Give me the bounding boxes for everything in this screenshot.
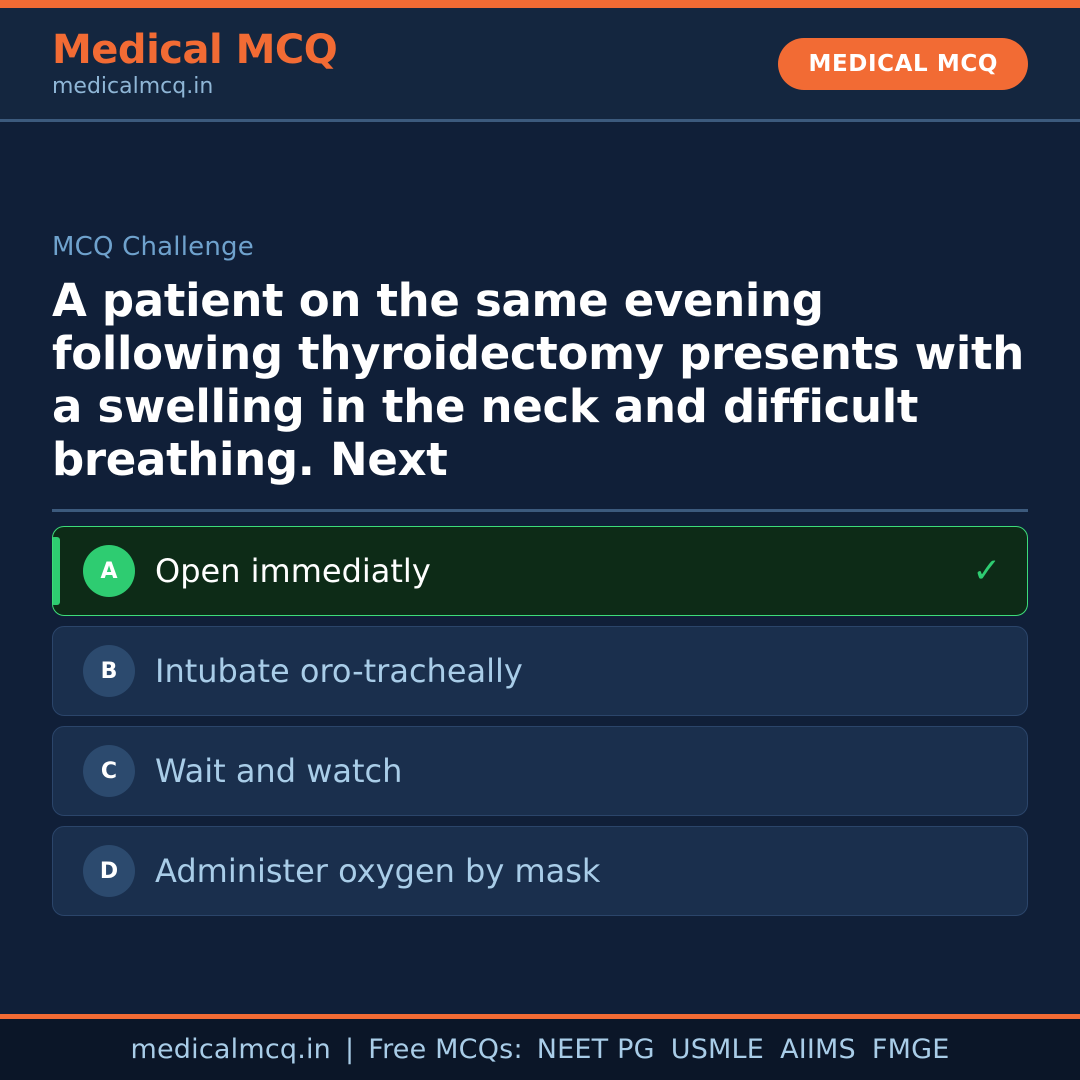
options-list: A Open immediatly ✓ B Intubate oro-trach… (52, 526, 1028, 916)
main-content: MCQ Challenge A patient on the same even… (0, 122, 1080, 1014)
option-label: Administer oxygen by mask (155, 852, 600, 890)
footer-tag-aiims: AIIMS (780, 1034, 856, 1065)
option-letter-badge: D (83, 845, 135, 897)
brand-block: Medical MCQ medicalmcq.in (52, 30, 337, 98)
footer-label: Free MCQs: (368, 1034, 522, 1065)
option-c[interactable]: C Wait and watch ✓ (52, 726, 1028, 816)
check-icon: ✓ (973, 554, 1002, 588)
brand-title: Medical MCQ (52, 30, 337, 70)
footer-separator: | (345, 1034, 354, 1065)
option-d[interactable]: D Administer oxygen by mask ✓ (52, 826, 1028, 916)
option-letter-badge: A (83, 545, 135, 597)
correct-accent-bar (53, 537, 60, 605)
option-label: Intubate oro-tracheally (155, 652, 523, 690)
option-letter-badge: B (83, 645, 135, 697)
footer-tag-neetpg: NEET PG (537, 1034, 655, 1065)
mcq-card: Medical MCQ medicalmcq.in MEDICAL MCQ MC… (0, 0, 1080, 1080)
option-letter-badge: C (83, 745, 135, 797)
eyebrow-label: MCQ Challenge (52, 232, 1028, 262)
question-text: A patient on the same evening following … (52, 274, 1028, 486)
option-a[interactable]: A Open immediatly ✓ (52, 526, 1028, 616)
option-label: Wait and watch (155, 752, 402, 790)
top-accent-bar (0, 0, 1080, 8)
header-badge: MEDICAL MCQ (778, 38, 1028, 90)
footer-text: medicalmcq.in | Free MCQs: NEET PG USMLE… (130, 1034, 949, 1065)
option-b[interactable]: B Intubate oro-tracheally ✓ (52, 626, 1028, 716)
page-header: Medical MCQ medicalmcq.in MEDICAL MCQ (0, 8, 1080, 122)
footer-site: medicalmcq.in (130, 1034, 331, 1065)
footer-tag-fmge: FMGE (872, 1034, 950, 1065)
section-divider (52, 509, 1028, 512)
option-label: Open immediatly (155, 552, 431, 590)
page-footer: medicalmcq.in | Free MCQs: NEET PG USMLE… (0, 1014, 1080, 1080)
footer-tags: NEET PG USMLE AIIMS FMGE (537, 1034, 950, 1065)
brand-subtitle: medicalmcq.in (52, 76, 337, 98)
footer-tag-usmle: USMLE (671, 1034, 764, 1065)
